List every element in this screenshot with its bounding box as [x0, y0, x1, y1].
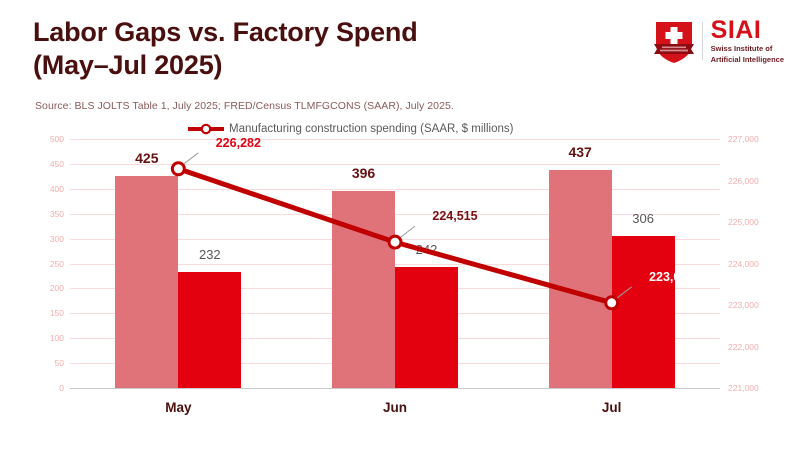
line-series: [70, 139, 720, 388]
spending-value-label: 223,053: [649, 270, 694, 284]
x-axis-labels: MayJunJul: [70, 400, 720, 426]
y-tick-left: 400: [24, 184, 64, 194]
y-tick-left: 200: [24, 283, 64, 293]
y-tick-right: 225,000: [728, 217, 774, 227]
source-subtitle: Source: BLS JOLTS Table 1, July 2025; FR…: [35, 100, 454, 112]
spending-value-label: 224,515: [432, 209, 477, 223]
y-tick-left: 300: [24, 234, 64, 244]
title-line-2: (May–Jul 2025): [33, 49, 573, 82]
x-label-may: May: [165, 400, 191, 415]
logo-name: SIAI: [711, 18, 784, 43]
line-point-marker[interactable]: [606, 297, 618, 309]
swiss-shield-icon: [653, 18, 695, 64]
logo-divider: [702, 22, 703, 60]
y-tick-right: 221,000: [728, 383, 774, 393]
y-tick-left: 350: [24, 209, 64, 219]
spending-value-label: 226,282: [216, 136, 261, 150]
y-tick-left: 100: [24, 333, 64, 343]
y-tick-left: 0: [24, 383, 64, 393]
line-point-marker[interactable]: [389, 236, 401, 248]
chart-area: Manufacturing construction spending (SAA…: [0, 120, 800, 450]
legend-line-marker-icon: [188, 123, 224, 135]
legend-label: Manufacturing construction spending (SAA…: [229, 123, 513, 135]
x-label-jul: Jul: [602, 400, 622, 415]
line-point-marker[interactable]: [172, 163, 184, 175]
y-tick-left: 500: [24, 134, 64, 144]
y-tick-right: 223,000: [728, 300, 774, 310]
logo-tagline-2: Artificial Intelligence: [711, 55, 784, 65]
y-tick-left: 250: [24, 259, 64, 269]
logo-tagline-1: Swiss Institute of: [711, 44, 784, 54]
logo-text: SIAI Swiss Institute of Artificial Intel…: [711, 18, 784, 64]
y-tick-right: 226,000: [728, 176, 774, 186]
page-title: Labor Gaps vs. Factory Spend (May–Jul 20…: [33, 16, 573, 82]
y-tick-left: 50: [24, 358, 64, 368]
header: Labor Gaps vs. Factory Spend (May–Jul 20…: [0, 0, 800, 120]
siai-logo: SIAI Swiss Institute of Artificial Intel…: [653, 15, 784, 67]
chart-page: Labor Gaps vs. Factory Spend (May–Jul 20…: [0, 0, 800, 450]
y-tick-right: 224,000: [728, 259, 774, 269]
gridline: [70, 388, 720, 389]
x-label-jun: Jun: [383, 400, 407, 415]
title-line-1: Labor Gaps vs. Factory Spend: [33, 17, 418, 47]
y-tick-left: 150: [24, 308, 64, 318]
y-tick-right: 222,000: [728, 342, 774, 352]
plot-area: 050100150200250300350400450500 221,00022…: [70, 139, 720, 388]
y-tick-left: 450: [24, 159, 64, 169]
y-tick-right: 227,000: [728, 134, 774, 144]
